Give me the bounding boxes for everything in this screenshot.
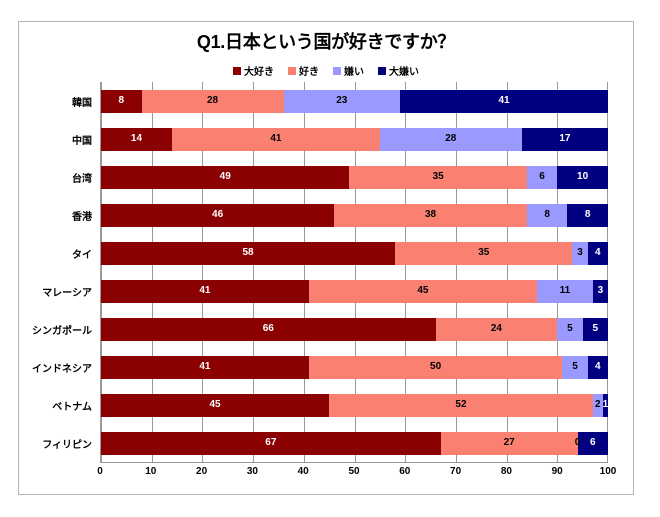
bar-value-label: 5 (593, 324, 599, 334)
bar-segment[interactable]: 58 (101, 242, 395, 265)
x-tick-label-10: 100 (600, 466, 617, 477)
bar-value-label: 0 (575, 438, 581, 448)
y-axis-label-3: 香港 (19, 204, 97, 227)
bar-row: 14412817 (101, 128, 608, 151)
bar-segment[interactable]: 66 (101, 318, 436, 341)
legend-label: 大嫌い (389, 63, 419, 78)
bar-segment[interactable]: 4 (588, 356, 608, 379)
bar-value-label: 24 (491, 324, 502, 334)
bar-value-label: 3 (577, 248, 583, 258)
bar-value-label: 41 (199, 286, 210, 296)
bar-segment[interactable]: 35 (349, 166, 526, 189)
bar-segment[interactable]: 50 (309, 356, 563, 379)
bar-segment[interactable]: 23 (284, 90, 401, 113)
bar-segment[interactable]: 8 (527, 204, 568, 227)
legend-item-3[interactable]: 大嫌い (378, 63, 419, 78)
bar-row: 8282341 (101, 90, 608, 113)
y-axis-label-6: シンガポール (19, 318, 97, 341)
legend-swatch-icon (233, 67, 241, 75)
bar-value-label: 50 (430, 362, 441, 372)
legend-label: 嫌い (344, 63, 364, 78)
bar-segment[interactable]: 45 (309, 280, 537, 303)
bar-segment[interactable]: 6 (578, 432, 608, 455)
bar-value-label: 46 (212, 210, 223, 220)
bar-segment[interactable]: 41 (101, 356, 309, 379)
legend-swatch-icon (378, 67, 386, 75)
legend-swatch-icon (333, 67, 341, 75)
bar-value-label: 28 (207, 96, 218, 106)
bar-value-label: 8 (118, 96, 124, 106)
bar-segment[interactable]: 41 (101, 280, 309, 303)
bar-segment[interactable]: 38 (334, 204, 527, 227)
bar-segment[interactable]: 49 (101, 166, 349, 189)
bar-row: 455221 (101, 394, 608, 417)
x-tick-label-9: 90 (552, 466, 563, 477)
bar-segment[interactable]: 2 (593, 394, 603, 417)
legend-swatch-icon (288, 67, 296, 75)
x-tick-label-1: 10 (145, 466, 156, 477)
bar-segment[interactable]: 10 (557, 166, 608, 189)
bar-value-label: 27 (504, 438, 515, 448)
y-axis-label-5: マレーシア (19, 280, 97, 303)
bar-value-label: 67 (265, 438, 276, 448)
bar-row: 4935610 (101, 166, 608, 189)
legend-label: 好き (299, 63, 319, 78)
bar-value-label: 41 (498, 96, 509, 106)
bar-segment[interactable]: 67 (101, 432, 441, 455)
bar-row: 463888 (101, 204, 608, 227)
bar-value-label: 5 (567, 324, 573, 334)
bar-segment[interactable]: 3 (593, 280, 608, 303)
x-tick-label-2: 20 (196, 466, 207, 477)
bar-segment[interactable]: 28 (380, 128, 522, 151)
legend-item-1[interactable]: 好き (288, 63, 319, 78)
bar-value-label: 23 (336, 96, 347, 106)
y-axis-label-7: インドネシア (19, 356, 97, 379)
bar-value-label: 49 (220, 172, 231, 182)
y-axis-label-0: 韓国 (19, 90, 97, 113)
bar-value-label: 41 (199, 362, 210, 372)
bar-segment[interactable]: 8 (567, 204, 608, 227)
bar-value-label: 66 (263, 324, 274, 334)
bar-row: 662455 (101, 318, 608, 341)
legend-item-2[interactable]: 嫌い (333, 63, 364, 78)
bar-value-label: 45 (210, 400, 221, 410)
bar-segment[interactable]: 41 (400, 90, 608, 113)
x-tick-label-4: 40 (298, 466, 309, 477)
bar-value-label: 35 (433, 172, 444, 182)
legend-item-0[interactable]: 大好き (233, 63, 274, 78)
bar-value-label: 5 (572, 362, 578, 372)
bar-segment[interactable]: 52 (329, 394, 593, 417)
bar-value-label: 8 (585, 210, 591, 220)
y-axis-label-9: フィリピン (19, 432, 97, 455)
y-axis-label-4: タイ (19, 242, 97, 265)
plot-area: 8282341144128174935610463888583534414511… (100, 82, 608, 463)
bar-value-label: 11 (560, 286, 571, 296)
y-axis-label-1: 中国 (19, 128, 97, 151)
bar-rows: 8282341144128174935610463888583534414511… (101, 82, 608, 462)
bar-segment[interactable]: 17 (522, 128, 608, 151)
chart-title: Q1.日本という国が好きですか？ (19, 28, 633, 54)
legend-label: 大好き (244, 63, 274, 78)
bar-segment[interactable]: 35 (395, 242, 572, 265)
bar-value-label: 4 (595, 362, 601, 372)
bar-value-label: 35 (478, 248, 489, 258)
bar-segment[interactable]: 11 (537, 280, 593, 303)
bar-value-label: 45 (417, 286, 428, 296)
x-tick-label-6: 60 (399, 466, 410, 477)
bar-value-label: 8 (544, 210, 550, 220)
x-tick-label-5: 50 (348, 466, 359, 477)
y-axis-category-labels: 韓国中国台湾香港タイマレーシアシンガポールインドネシアベトナムフィリピン (19, 82, 97, 463)
bar-segment[interactable]: 46 (101, 204, 334, 227)
bar-value-label: 2 (595, 400, 601, 410)
bar-segment[interactable]: 8 (101, 90, 142, 113)
bar-value-label: 6 (590, 438, 596, 448)
bar-value-label: 3 (598, 286, 604, 296)
bar-value-label: 14 (131, 134, 142, 144)
bar-row: 415054 (101, 356, 608, 379)
bar-segment[interactable]: 6 (527, 166, 557, 189)
x-tick-label-0: 0 (97, 466, 103, 477)
bar-value-label: 17 (559, 134, 570, 144)
bar-value-label: 38 (425, 210, 436, 220)
bar-segment[interactable]: 3 (572, 242, 587, 265)
bar-value-label: 10 (577, 172, 588, 182)
x-tick-label-7: 70 (450, 466, 461, 477)
bar-segment[interactable]: 5 (557, 318, 582, 341)
bar-segment[interactable]: 28 (142, 90, 284, 113)
bar-segment[interactable]: 45 (101, 394, 329, 417)
chart-frame: Q1.日本という国が好きですか？ 大好き好き嫌い大嫌い 韓国中国台湾香港タイマレ… (18, 21, 634, 495)
bar-row: 672706 (101, 432, 608, 455)
y-axis-label-8: ベトナム (19, 394, 97, 417)
bar-value-label: 1 (603, 400, 609, 410)
x-axis-tick-labels: 0102030405060708090100 (100, 466, 608, 482)
x-tick-label-3: 30 (247, 466, 258, 477)
bar-value-label: 6 (539, 172, 545, 182)
bar-value-label: 41 (270, 134, 281, 144)
chart-legend: 大好き好き嫌い大嫌い (19, 63, 633, 78)
bar-segment[interactable]: 5 (562, 356, 587, 379)
bar-value-label: 4 (595, 248, 601, 258)
bar-value-label: 28 (445, 134, 456, 144)
bar-segment[interactable]: 41 (172, 128, 380, 151)
bar-value-label: 52 (455, 400, 466, 410)
bar-segment[interactable]: 14 (101, 128, 172, 151)
bar-segment[interactable]: 27 (441, 432, 578, 455)
y-axis-label-2: 台湾 (19, 166, 97, 189)
bar-segment[interactable]: 4 (588, 242, 608, 265)
bar-segment[interactable]: 5 (583, 318, 608, 341)
bar-row: 583534 (101, 242, 608, 265)
x-tick-label-8: 80 (501, 466, 512, 477)
bar-value-label: 58 (242, 248, 253, 258)
bar-segment[interactable]: 1 (603, 394, 608, 417)
bar-segment[interactable]: 24 (436, 318, 558, 341)
bar-row: 4145113 (101, 280, 608, 303)
